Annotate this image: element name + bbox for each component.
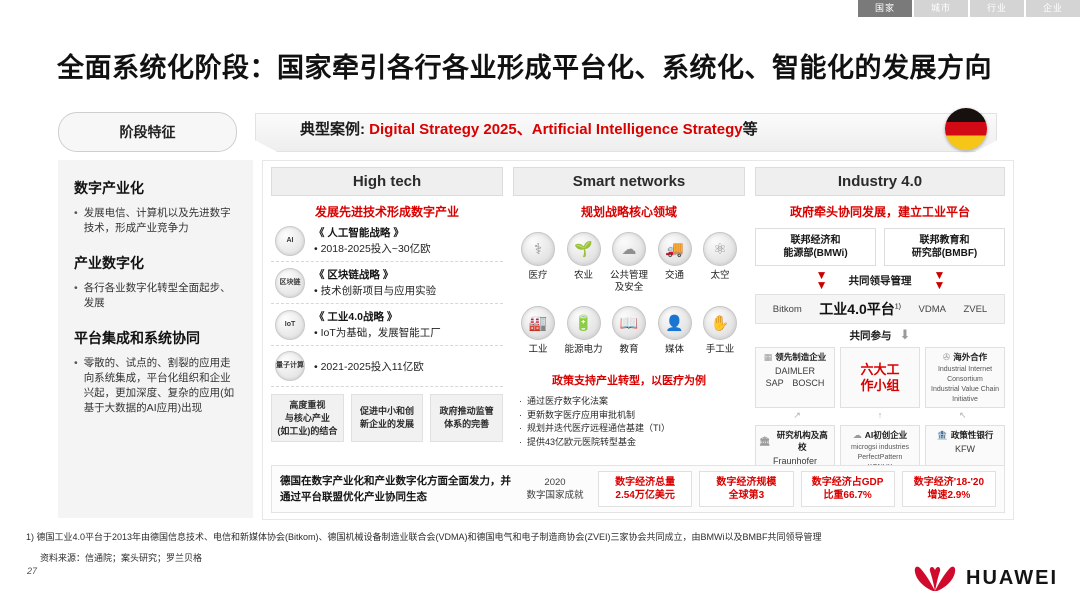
handicraft-icon: ✋ (703, 306, 737, 340)
icon-label: 农业 (563, 270, 605, 282)
partner-cell-manufacturers: ▦领先制造企业 DAIMLERSAP BOSCH (755, 347, 835, 408)
cell-body: DAIMLERSAP BOSCH (759, 365, 831, 389)
bullet-dot-icon: • (74, 356, 78, 416)
platform-zvel: ZVEL (963, 304, 987, 315)
policy-item: ·规划并迭代医疗远程通信基建（TI） (519, 422, 745, 436)
lp-bullet-1-text: 发展电信、计算机以及先进数字技术，形成产业竞争力 (84, 206, 237, 236)
platform-main-text: 工业4.0平台 (819, 301, 894, 317)
icon-label: 工业 (517, 344, 559, 356)
stat-growth: 数字经济'18-'20增速2.9% (902, 471, 996, 507)
row-detail: • 2021-2025投入11亿欧 (314, 359, 424, 374)
bullet-dot-icon: · (519, 409, 522, 423)
cell-heading-text: AI初创企业 (865, 429, 908, 441)
smart-icon-cell: 🚚 交通 (654, 232, 696, 294)
icon-label: 媒体 (654, 344, 696, 356)
blockchain-badge-icon: 区块链 (275, 268, 305, 298)
policy-item-text: 提供43亿欧元医院转型基金 (527, 436, 636, 450)
down-arrow-icon: ▼▼ (934, 270, 945, 290)
smart-networks-subtitle: 规划战略核心领域 (513, 203, 745, 220)
source-note: 资料来源：信通院；案头研究；罗兰贝格 (40, 551, 202, 564)
smart-icon-cell: 🏭 工业 (517, 306, 559, 356)
stat-gdp-share: 数字经济占GDP比重66.7% (801, 471, 895, 507)
huawei-wordmark: HUAWEI (966, 567, 1058, 590)
cell-heading: 🏦政策性银行 (929, 429, 1001, 441)
policy-list: ·通过医疗数字化法案 ·更新数字医疗应用审批机制 ·规划并迭代医疗远程通信基建（… (513, 395, 745, 449)
platform-vdma: VDMA (919, 304, 946, 315)
lp-heading-2: 产业数字化 (74, 253, 237, 273)
cell-heading-text: 领先制造企业 (775, 351, 826, 363)
industry-40-header: Industry 4.0 (755, 167, 1005, 196)
media-icon: 👤 (658, 306, 692, 340)
policy-title: 政策支持产业转型，以医疗为例 (513, 372, 745, 388)
cell-heading: ☁AI初创企业 (844, 429, 916, 441)
education-icon: 📖 (612, 306, 646, 340)
cell-heading: ✇海外合作 (929, 351, 1001, 363)
smart-icon-row-1: ⚕ 医疗 🌱 农业 ☁ 公共管理及安全 🚚 交通 ⚛ 太空 (513, 232, 745, 294)
partner-arrow-row: ↗ ↑ ↖ (755, 410, 1005, 421)
partner-grid-row-1: ▦领先制造企业 DAIMLERSAP BOSCH 六大工作小组 ✇海外合作 In… (755, 347, 1005, 408)
lp-heading-1: 数字产业化 (74, 178, 237, 198)
public-admin-icon: ☁ (612, 232, 646, 266)
cell-body: KFW (929, 443, 1001, 455)
bullet-dot-icon: · (519, 436, 522, 450)
smart-icon-cell: 🌱 农业 (563, 232, 605, 294)
cell-heading: ▦领先制造企业 (759, 351, 831, 363)
bullet-dot-icon: · (519, 422, 522, 436)
stage-feature-label: 阶段特征 (120, 122, 176, 142)
space-icon: ⚛ (703, 232, 737, 266)
factory-icon: ▦ (764, 352, 773, 363)
bullet-dot-icon: • (74, 281, 78, 311)
smart-icon-cell: ⚕ 医疗 (517, 232, 559, 294)
down-arrow-icon: ⬇ (900, 327, 911, 343)
icon-label: 交通 (654, 270, 696, 282)
footnote: 1) 德国工业4.0平台于2013年由德国信息技术、电信和新媒体协会(Bitko… (26, 530, 822, 543)
stage-feature-panel: 数字产业化 • 发展电信、计算机以及先进数字技术，形成产业竞争力 产业数字化 •… (58, 160, 253, 518)
joint-lead-row: ▼▼ 共同领导管理 ▼▼ (755, 270, 1005, 290)
summary-year-value: 2020 (519, 476, 591, 489)
high-tech-header: High tech (271, 167, 503, 196)
lp-heading-3: 平台集成和系统协同 (74, 328, 237, 348)
column-smart-networks: Smart networks 规划战略核心领域 ⚕ 医疗 🌱 农业 ☁ 公共管理… (513, 167, 745, 449)
ai-badge-icon: AI (275, 226, 305, 256)
summary-bar: 德国在数字产业化和产业数字化方面全面发力，并通过平台联盟优化产业协同生态 202… (271, 465, 1005, 513)
medical-icon: ⚕ (521, 232, 555, 266)
arrow-up-right-icon: ↖ (959, 410, 967, 421)
case-suffix: 等 (743, 121, 758, 138)
ministry-bmbf: 联邦教育和研究部(BMBF) (884, 228, 1005, 266)
column-industry-40: Industry 4.0 政府牵头协同发展，建立工业平台 联邦经济和能源部(BM… (755, 167, 1005, 482)
ministry-row: 联邦经济和能源部(BMWi) 联邦教育和研究部(BMBF) (755, 228, 1005, 266)
tab-enterprise[interactable]: 企业 (1026, 0, 1080, 17)
joint-lead-label: 共同领导管理 (849, 273, 912, 288)
high-tech-row: IoT 《 工业4.0战略 》 • IoT为基础，发展智能工厂 (271, 304, 503, 346)
high-tech-row: 量子计算 • 2021-2025投入11亿欧 (271, 346, 503, 387)
row-detail: • IoT为基础，发展智能工厂 (314, 325, 441, 340)
policy-item: ·更新数字医疗应用审批机制 (519, 409, 745, 423)
icon-label: 医疗 (517, 270, 559, 282)
huawei-logo-icon (913, 563, 957, 593)
stat-rank: 数字经济规模全球第3 (699, 471, 793, 507)
smart-icon-cell: 👤 媒体 (654, 306, 696, 356)
high-tech-box: 高度重视与核心产业(如工业)的结合 (271, 394, 344, 442)
high-tech-subtitle: 发展先进技术形成数字产业 (271, 203, 503, 220)
iot-badge-icon: IoT (275, 310, 305, 340)
quantum-badge-icon: 量子计算 (275, 351, 305, 381)
stat-total: 数字经济总量2.54万亿美元 (598, 471, 692, 507)
participate-label: 共同参与 (850, 328, 892, 343)
cell-heading-text: 政策性银行 (951, 429, 994, 441)
summary-year: 2020 数字国家成就 (519, 476, 591, 502)
platform-main-label: 工业4.0平台1) (819, 299, 901, 319)
smart-networks-header: Smart networks (513, 167, 745, 196)
icon-label: 太空 (699, 270, 741, 282)
lp-bullet-1: • 发展电信、计算机以及先进数字技术，形成产业竞争力 (74, 206, 237, 236)
core-workgroups-text: 六大工作小组 (844, 351, 916, 405)
row-title: 《 区块链战略 》 (314, 267, 436, 282)
policy-item: ·通过医疗数字化法案 (519, 395, 745, 409)
summary-year-label: 数字国家成就 (519, 489, 591, 502)
participate-row: 共同参与 ⬇ (755, 327, 1005, 343)
arrow-up-icon: ↑ (878, 410, 883, 421)
stage-feature-pill: 阶段特征 (58, 112, 237, 152)
agriculture-icon: 🌱 (567, 232, 601, 266)
cell-heading-text: 研究机构及高校 (773, 429, 831, 453)
slide-root: 国家 城市 行业 企业 全面系统化阶段：国家牵引各行各业形成平台化、系统化、智能… (0, 0, 1080, 607)
lp-bullet-2: • 各行各业数字化转型全面起步、发展 (74, 281, 237, 311)
policy-item-text: 更新数字医疗应用审批机制 (527, 409, 635, 423)
industry-icon: 🏭 (521, 306, 555, 340)
tab-industry[interactable]: 行业 (970, 0, 1024, 17)
column-high-tech: High tech 发展先进技术形成数字产业 AI 《 人工智能战略 》 • 2… (271, 167, 503, 442)
case-text: 典型案例: Digital Strategy 2025、Artificial I… (300, 118, 758, 139)
icon-label: 教育 (608, 344, 650, 356)
lp-bullet-2-text: 各行各业数字化转型全面起步、发展 (84, 281, 237, 311)
school-icon: 🏛 (759, 436, 770, 447)
row-title: 《 人工智能战略 》 (314, 225, 431, 240)
huawei-branding: HUAWEI (913, 563, 1058, 593)
high-tech-box-row: 高度重视与核心产业(如工业)的结合 促进中小和创新企业的发展 政府推动监管体系的… (271, 394, 503, 442)
page-title: 全面系统化阶段：国家牵引各行各业形成平台化、系统化、智能化的发展方向 (57, 46, 992, 85)
cell-body: Industrial Internet ConsortiumIndustrial… (929, 365, 1001, 405)
high-tech-row: 区块链 《 区块链战略 》 • 技术创新项目与应用实验 (271, 262, 503, 304)
lp-bullet-3: • 零散的、试点的、割裂的应用走向系统集成，平台化组织和企业兴起，更加深度、复杂… (74, 356, 237, 416)
globe-icon: ✇ (943, 352, 951, 363)
icon-label: 公共管理及安全 (608, 270, 650, 294)
arrow-up-left-icon: ↗ (793, 410, 801, 421)
high-tech-box: 政府推动监管体系的完善 (430, 394, 503, 442)
policy-item-text: 规划并迭代医疗远程通信基建（TI） (527, 422, 670, 436)
partner-cell-workgroups: 六大工作小组 (840, 347, 920, 408)
platform-bar: Bitkom 工业4.0平台1) VDMA ZVEL (755, 294, 1005, 324)
platform-bitkom: Bitkom (773, 304, 802, 315)
bullet-dot-icon: · (519, 395, 522, 409)
case-highlight: Digital Strategy 2025、Artificial Intelli… (369, 121, 742, 138)
summary-text: 德国在数字产业化和产业数字化方面全面发力，并通过平台联盟优化产业协同生态 (280, 473, 512, 505)
down-arrow-icon: ▼▼ (816, 270, 827, 290)
cell-heading-text: 海外合作 (953, 351, 987, 363)
page-number: 27 (27, 566, 37, 576)
lp-bullet-3-text: 零散的、试点的、割裂的应用走向系统集成，平台化组织和企业兴起，更加深度、复杂的应… (84, 356, 237, 416)
bullet-dot-icon: • (74, 206, 78, 236)
energy-icon: 🔋 (567, 306, 601, 340)
high-tech-row: AI 《 人工智能战略 》 • 2018-2025投入~30亿欧 (271, 220, 503, 262)
icon-label: 手工业 (699, 344, 741, 356)
row-detail: • 2018-2025投入~30亿欧 (314, 241, 431, 256)
tab-country[interactable]: 国家 (858, 0, 912, 17)
top-tab-bar: 国家 城市 行业 企业 (858, 0, 1080, 17)
smart-icon-row-2: 🏭 工业 🔋 能源电力 📖 教育 👤 媒体 ✋ 手工业 (513, 306, 745, 356)
policy-item-text: 通过医疗数字化法案 (527, 395, 608, 409)
row-detail: • 技术创新项目与应用实验 (314, 283, 436, 298)
industry-40-subtitle: 政府牵头协同发展，建立工业平台 (755, 203, 1005, 220)
smart-icon-cell: ⚛ 太空 (699, 232, 741, 294)
high-tech-box: 促进中小和创新企业的发展 (351, 394, 424, 442)
transport-icon: 🚚 (658, 232, 692, 266)
ministry-bmwi: 联邦经济和能源部(BMWi) (755, 228, 876, 266)
smart-icon-cell: ☁ 公共管理及安全 (608, 232, 650, 294)
germany-flag-icon (945, 108, 987, 150)
content-board: High tech 发展先进技术形成数字产业 AI 《 人工智能战略 》 • 2… (262, 160, 1014, 520)
smart-icon-cell: ✋ 手工业 (699, 306, 741, 356)
icon-label: 能源电力 (563, 344, 605, 356)
ai-startup-icon: ☁ (853, 430, 862, 441)
partner-cell-overseas: ✇海外合作 Industrial Internet ConsortiumIndu… (925, 347, 1005, 408)
bank-icon: 🏦 (937, 430, 948, 441)
tab-city[interactable]: 城市 (914, 0, 968, 17)
row-title: 《 工业4.0战略 》 (314, 309, 441, 324)
smart-icon-cell: 🔋 能源电力 (563, 306, 605, 356)
footnote-marker: 1) (895, 303, 901, 310)
cell-heading: 🏛研究机构及高校 (759, 429, 831, 453)
policy-item: ·提供43亿欧元医院转型基金 (519, 436, 745, 450)
case-prefix: 典型案例: (300, 121, 369, 138)
smart-icon-cell: 📖 教育 (608, 306, 650, 356)
